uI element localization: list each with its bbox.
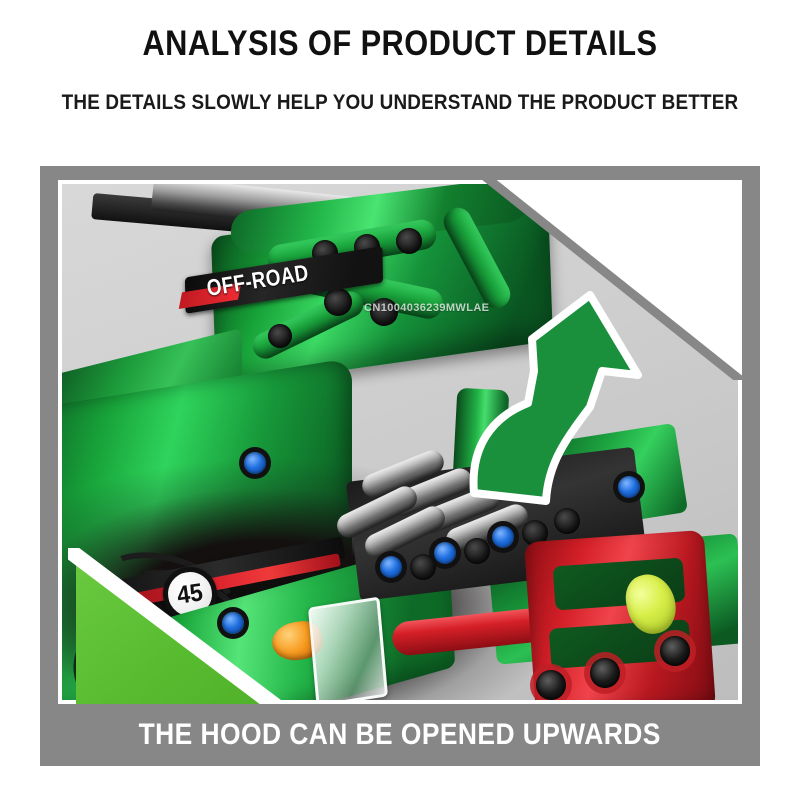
caption-bar: THE HOOD CAN BE OPENED UPWARDS — [40, 704, 760, 766]
page-title: ANALYSIS OF PRODUCT DETAILS — [48, 24, 752, 64]
page-subtitle: THE DETAILS SLOWLY HELP YOU UNDERSTAND T… — [40, 91, 760, 115]
product-detail-page: ANALYSIS OF PRODUCT DETAILS THE DETAILS … — [0, 0, 800, 800]
bumper-pin-hole — [536, 670, 566, 700]
image-watermark: CN1004036239MWLAE — [364, 302, 489, 314]
blue-technic-pin — [244, 452, 266, 474]
caption-text: THE HOOD CAN BE OPENED UPWARDS — [139, 718, 661, 752]
beam-pin-hole — [324, 288, 352, 316]
image-mat: OFF-ROAD 45 OFF-ROAD — [58, 180, 742, 704]
header-block: ANALYSIS OF PRODUCT DETAILS THE DETAILS … — [0, 0, 800, 115]
engine-pin-hole — [464, 538, 490, 564]
bumper-pin-hole — [660, 636, 690, 666]
product-image-frame: OFF-ROAD 45 OFF-ROAD — [40, 166, 760, 766]
blue-technic-pin — [380, 556, 402, 578]
blue-technic-pin — [434, 542, 456, 564]
headlight-lens — [308, 597, 388, 700]
bumper-pin-hole — [590, 658, 620, 688]
engine-pin-hole — [410, 554, 436, 580]
corner-diagonal-decoration — [482, 180, 742, 380]
beam-pin-hole — [396, 228, 422, 254]
blue-technic-pin — [492, 526, 514, 548]
white-diagonal-divider — [68, 548, 318, 704]
engine-pin-hole — [554, 508, 580, 534]
beam-pin-hole — [268, 324, 292, 348]
blue-technic-pin — [618, 476, 640, 498]
